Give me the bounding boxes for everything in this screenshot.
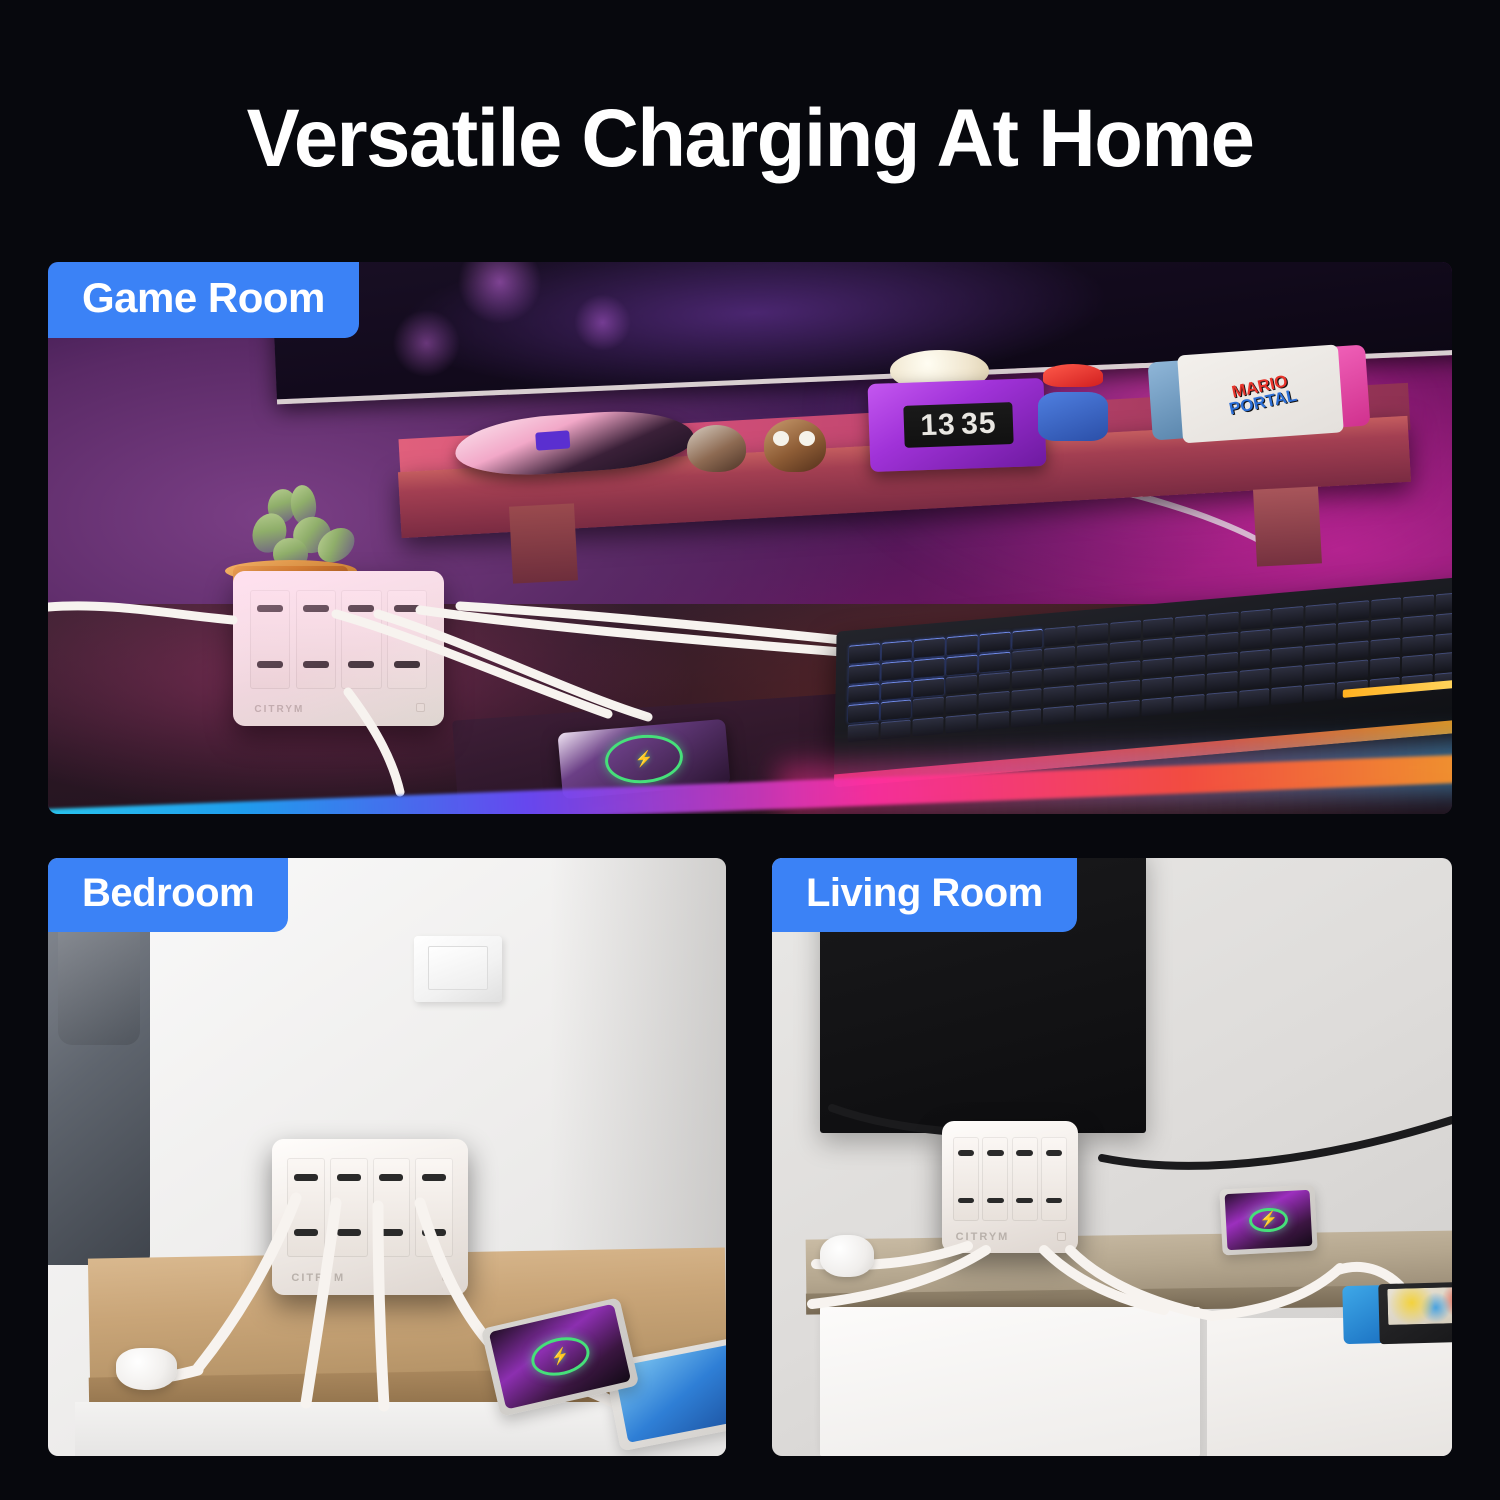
charging-bolt-icon: ⚡ <box>635 750 655 767</box>
bedroom-scene: CITRYM ⚡ <box>48 858 726 1456</box>
console-screen <box>1378 1280 1452 1343</box>
panel-bedroom: CITRYM ⚡ <box>48 858 726 1456</box>
panel-living-room: CITRYM ⚡ <box>772 858 1452 1456</box>
earbuds-case <box>116 1348 177 1390</box>
infographic-page: Versatile Charging At Home <box>0 0 1500 1500</box>
charging-phone: ⚡ <box>1219 1184 1317 1255</box>
charging-cables <box>772 858 1452 1456</box>
joycon-left <box>1342 1285 1383 1343</box>
charging-ring-icon: ⚡ <box>527 1333 593 1382</box>
badge-game-room[interactable]: Game Room <box>48 262 359 338</box>
console-game-artwork <box>1387 1286 1452 1325</box>
charging-ring-icon: ⚡ <box>1248 1206 1289 1233</box>
badge-bedroom[interactable]: Bedroom <box>48 858 288 932</box>
game-room-scene: 13 35 MARIO PORTAL <box>48 262 1452 814</box>
handheld-console <box>1342 1280 1452 1344</box>
phone-screen: ⚡ <box>1224 1189 1312 1250</box>
earbuds-case <box>820 1235 874 1277</box>
panel-game-room: 13 35 MARIO PORTAL <box>48 262 1452 814</box>
page-title: Versatile Charging At Home <box>23 96 1478 182</box>
charging-bolt-icon: ⚡ <box>1259 1212 1278 1228</box>
living-room-scene: CITRYM ⚡ <box>772 858 1452 1456</box>
badge-living-room[interactable]: Living Room <box>772 858 1077 932</box>
charging-bolt-icon: ⚡ <box>549 1348 571 1367</box>
charging-ring-icon: ⚡ <box>604 731 685 786</box>
